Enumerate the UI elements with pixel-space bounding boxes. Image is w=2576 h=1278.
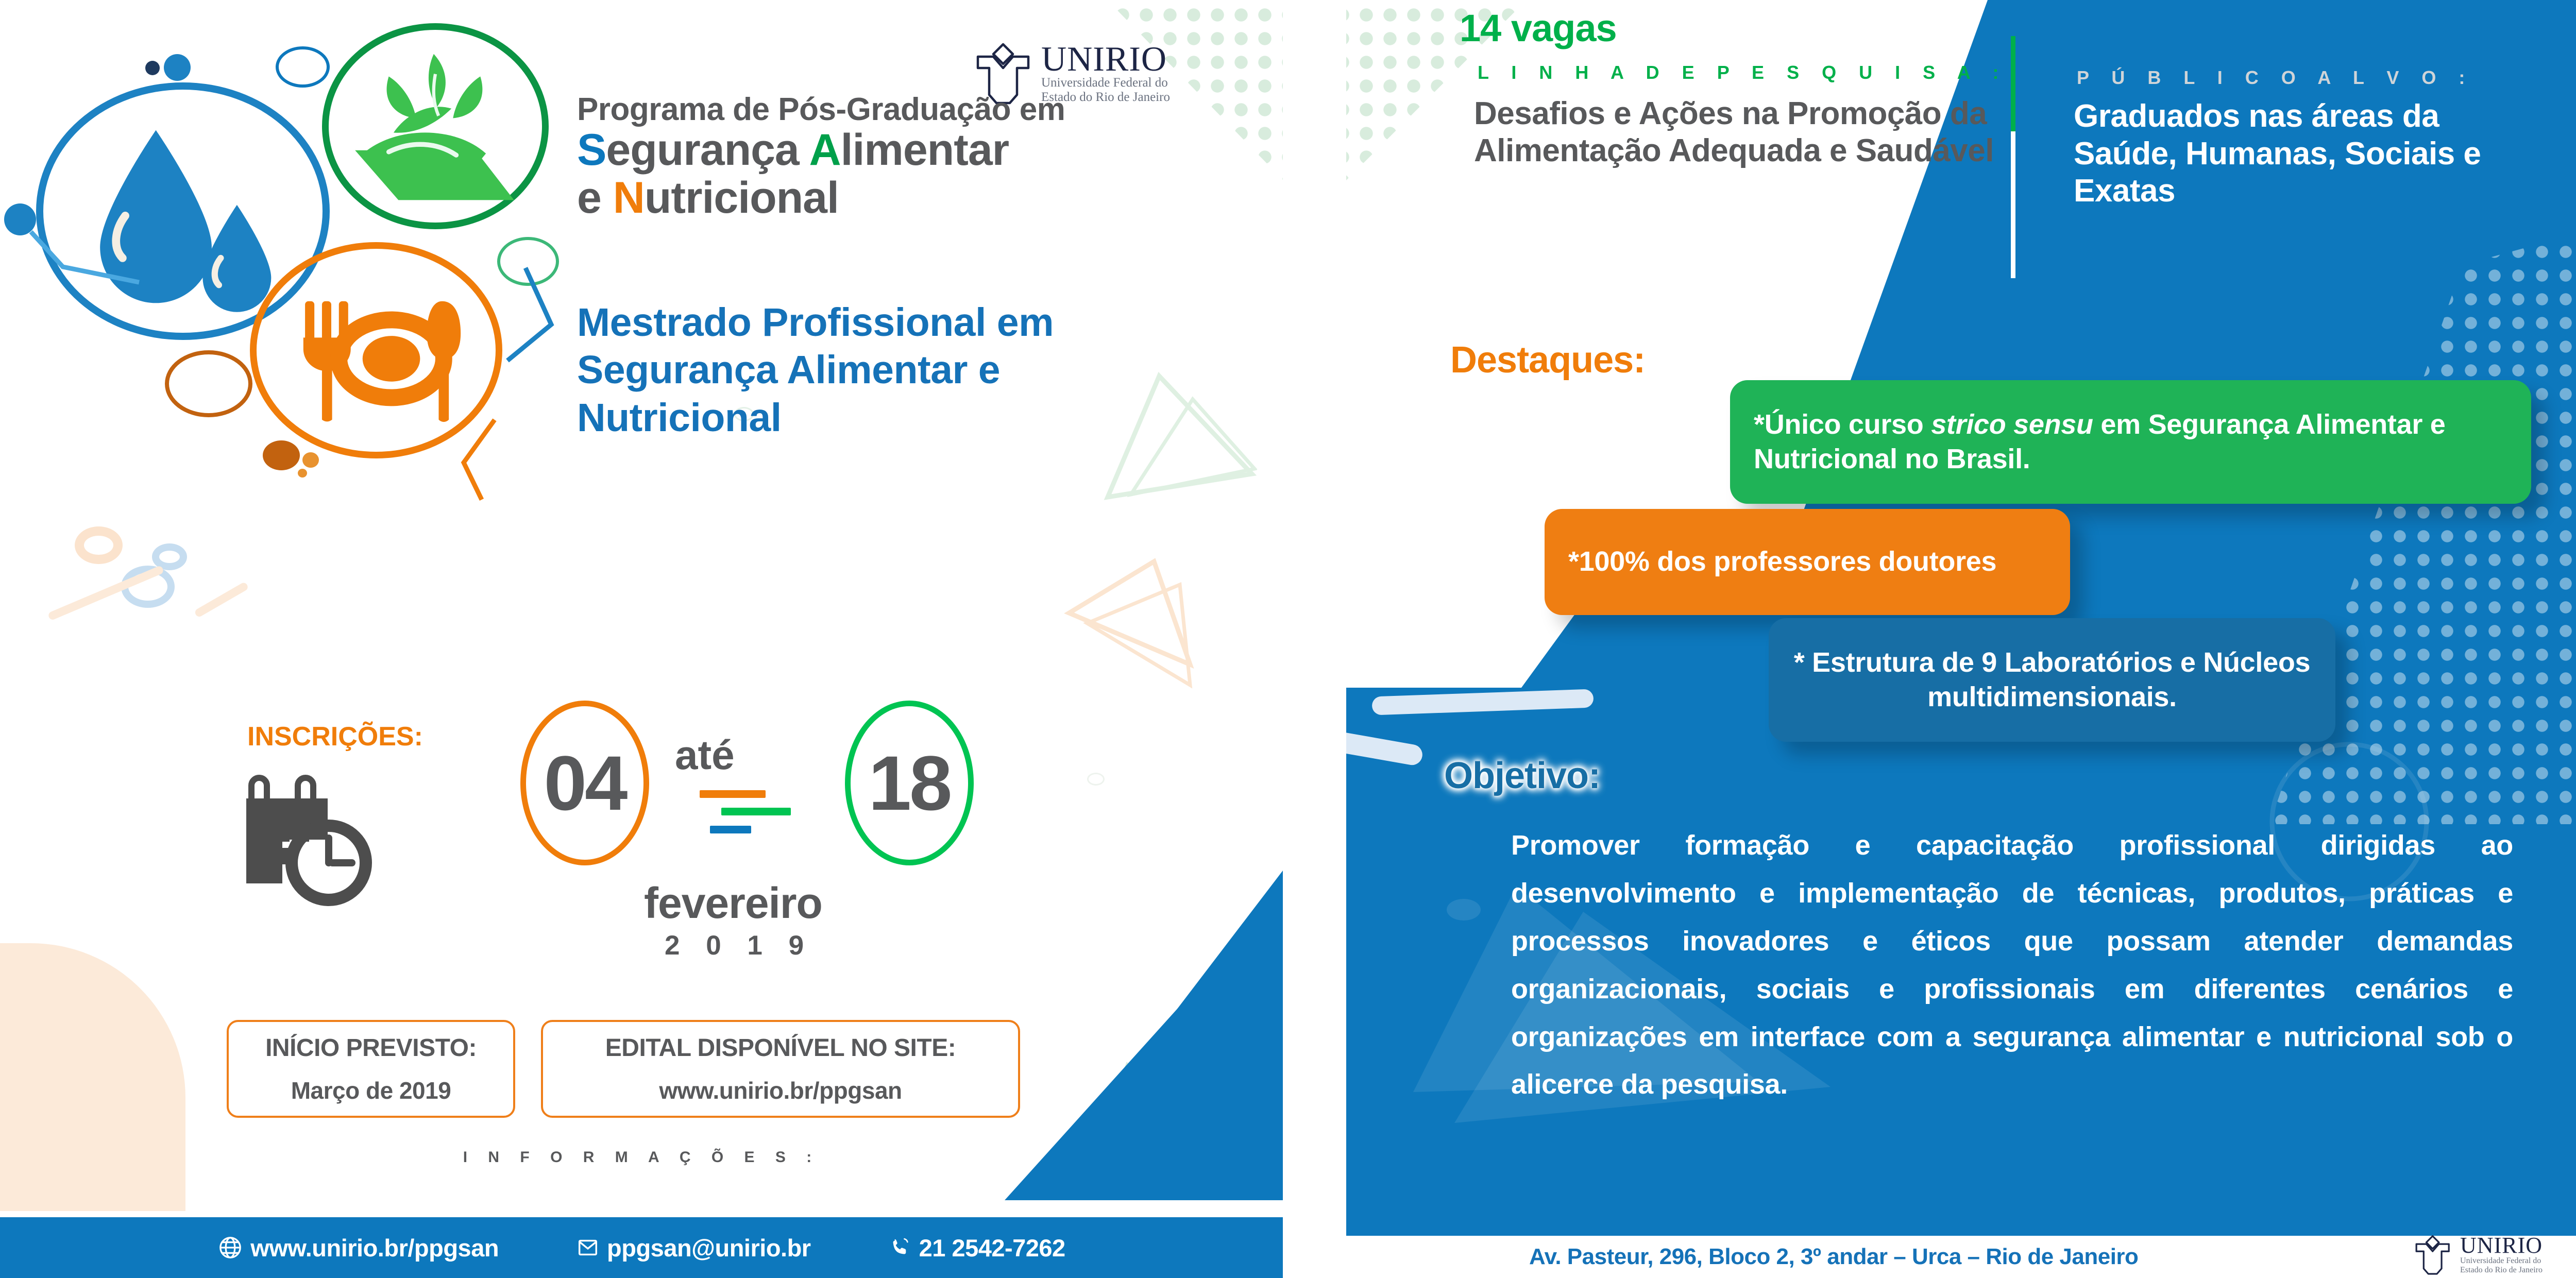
title-text-e: e (577, 173, 613, 223)
objective-label: Objetivo: (1444, 755, 1600, 797)
contact-website[interactable]: www.unirio.br/ppgsan (217, 1234, 499, 1262)
divider-white (2011, 131, 2015, 278)
title-text-seguranca: egurança (606, 125, 809, 175)
title-initial-a: A (809, 125, 840, 175)
title-initial-n: N (613, 173, 645, 223)
connector-lines-decor (15, 5, 562, 613)
highlights-label: Destaques: (1450, 339, 1645, 381)
notice-box: EDITAL DISPONÍVEL NO SITE: www.unirio.br… (541, 1020, 1020, 1118)
notice-url[interactable]: www.unirio.br/ppgsan (659, 1077, 902, 1104)
contact-email[interactable]: ppgsan@unirio.br (576, 1234, 811, 1262)
vacancies-count: 14 vagas (1460, 6, 1617, 50)
audience-label: P Ú B L I C O A L V O : (2077, 67, 2473, 89)
program-heading-block: Programa de Pós-Graduação em Segurança A… (577, 93, 1185, 222)
program-title-line1: Segurança Alimentar (577, 126, 1185, 174)
highlight-orange-text: *100% dos professores doutores (1568, 544, 2046, 580)
audience-text: Graduados nas áreas da Saúde, Humanas, S… (2074, 98, 2548, 210)
contact-email-text: ppgsan@unirio.br (607, 1234, 811, 1262)
program-label: Programa de Pós-Graduação em (577, 93, 1185, 126)
logo-name-footer: UNIRIO (2460, 1235, 2543, 1256)
title-text-utricional: utricional (645, 173, 839, 223)
highlight-card-orange: *100% dos professores doutores (1545, 509, 2070, 615)
enrollment-year: 2 0 1 9 (665, 930, 813, 961)
notice-caption: EDITAL DISPONÍVEL NO SITE: (605, 1034, 956, 1062)
logo-subtitle-footer-line2: Estado do Rio de Janeiro (2460, 1266, 2543, 1275)
program-title-line2: e Nutricional (577, 174, 1185, 222)
thematic-icon-cluster (15, 5, 562, 613)
start-date-box: INÍCIO PREVISTO: Março de 2019 (227, 1020, 515, 1118)
contact-phone-text: 21 2542-7262 (919, 1234, 1065, 1262)
title-initial-s: S (577, 125, 606, 175)
unirio-crest-icon-footer (2414, 1234, 2452, 1276)
divider-green (2011, 36, 2015, 131)
right-poster-panel: 14 vagas L I N H A D E P E S Q U I S A :… (1346, 0, 2576, 1278)
date-to: 18 (845, 701, 974, 865)
dash-green (721, 808, 791, 815)
highlight-blue-text: * Estrutura de 9 Laboratórios e Núcleos … (1792, 645, 2312, 715)
logo-name: UNIRIO (1041, 42, 1170, 76)
highlight-green-text: *Único curso strico sensu em Segurança A… (1754, 407, 2507, 477)
left-poster-panel: UNIRIO Universidade Federal do Estado do… (0, 0, 1283, 1278)
triangle-decor-cream-pair (1056, 556, 1211, 711)
highlight-card-blue: * Estrutura de 9 Laboratórios e Núcleos … (1769, 618, 2335, 742)
date-connector: até (675, 731, 735, 779)
information-label: I N F O R M A Ç Õ E S : (0, 1149, 1283, 1166)
logo-subtitle-line1: Universidade Federal do (1041, 76, 1170, 90)
date-from: 04 (520, 701, 649, 865)
degree-title: Mestrado Profissional em Segurança Alime… (577, 299, 1185, 441)
globe-icon (217, 1235, 243, 1260)
cream-blob-decor (0, 943, 185, 1211)
logo-subtitle-footer-line1: Universidade Federal do (2460, 1256, 2543, 1266)
unirio-logo-footer: UNIRIO Universidade Federal do Estado do… (2414, 1234, 2543, 1276)
address-text: Av. Pasteur, 296, Bloco 2, 3º andar – Ur… (1529, 1244, 2138, 1270)
research-line-label: L I N H A D E P E S Q U I S A : (1478, 62, 2007, 83)
enrollment-dates: 04 até 18 fevereiro 2 0 1 9 (515, 701, 1020, 932)
dot-decor-soft-blue (1447, 899, 1481, 921)
contact-website-text: www.unirio.br/ppgsan (250, 1234, 499, 1262)
highlight-card-green: *Único curso strico sensu em Segurança A… (1730, 380, 2531, 504)
enrollment-month: fevereiro (644, 878, 822, 928)
objective-text: Promover formação e capacitação profissi… (1511, 822, 2513, 1109)
envelope-icon (576, 1236, 600, 1259)
contact-phone[interactable]: 21 2542-7262 (888, 1234, 1065, 1262)
ring-decor-mint-tiny-2 (1087, 773, 1105, 786)
start-date-caption: INÍCIO PREVISTO: (265, 1034, 477, 1062)
contact-bar: www.unirio.br/ppgsan ppgsan@unirio.br 21… (0, 1217, 1283, 1278)
title-text-limentar: limentar (841, 125, 1009, 175)
dash-blue (710, 826, 751, 833)
phone-icon (888, 1236, 912, 1259)
start-date-value: Março de 2019 (291, 1077, 451, 1104)
research-line-text: Desafios e Ações na Promoção da Alimenta… (1474, 95, 2020, 169)
calendar-clock-icon (242, 757, 417, 912)
dash-orange (700, 790, 766, 798)
inscriptions-label: INSCRIÇÕES: (247, 721, 423, 752)
